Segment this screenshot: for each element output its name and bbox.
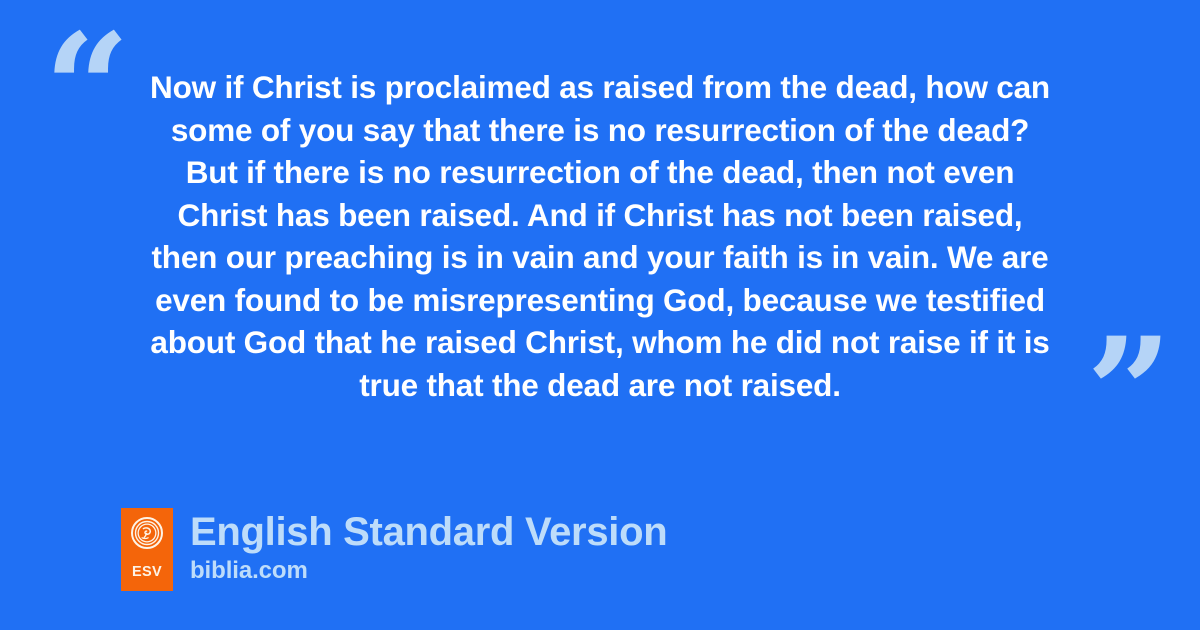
verse-card: “ Now if Christ is proclaimed as raised …: [0, 0, 1200, 630]
esv-logo-badge: ESV: [121, 508, 173, 591]
bible-version-name: English Standard Version: [190, 509, 667, 556]
site-name: biblia.com: [190, 557, 667, 585]
attribution-footer: ESV English Standard Version biblia.com: [121, 508, 667, 591]
closing-quote-icon: ”: [1086, 318, 1172, 468]
attribution-text-group: English Standard Version biblia.com: [190, 508, 667, 585]
esv-logo-abbreviation: ESV: [121, 565, 173, 580]
quote-text: Now if Christ is proclaimed as raised fr…: [110, 66, 1090, 406]
seal-emblem-icon: [131, 517, 163, 549]
quote-block: Now if Christ is proclaimed as raised fr…: [110, 66, 1090, 406]
